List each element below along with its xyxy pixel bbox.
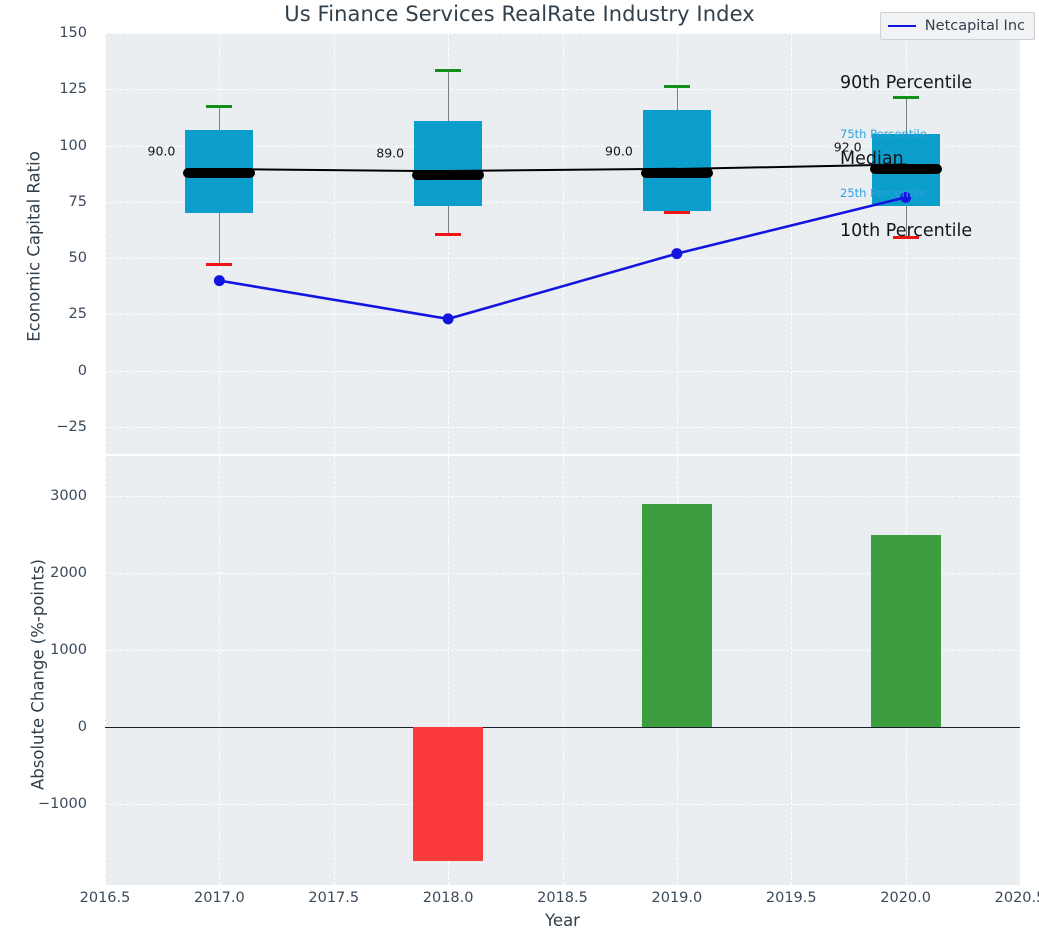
y-gridline-bottom (105, 496, 1020, 497)
annotation-75th-percentile: 75th Percentile (840, 127, 927, 141)
x-tick-label-7: 2020.0 (861, 890, 951, 906)
y-tick-label-top-2: 100 (0, 138, 96, 154)
legend-swatch-netcapital (888, 25, 916, 27)
x-tick-label-3: 2018.0 (403, 890, 493, 906)
y-gridline-top (105, 258, 1020, 259)
x-tick-label-5: 2019.0 (632, 890, 722, 906)
x-gridline (334, 33, 335, 454)
economic-capital-ratio-plot-area (105, 33, 1020, 454)
chart-figure: Us Finance Services RealRate Industry In… (0, 0, 1039, 942)
annotation-median: Median (840, 149, 904, 169)
x-gridline (105, 456, 106, 885)
x-tick-label-8: 2020.5 (975, 890, 1039, 906)
x-gridline (219, 456, 220, 885)
legend[interactable]: Netcapital Inc (880, 12, 1035, 40)
x-gridline (791, 33, 792, 454)
x-gridline (105, 33, 106, 454)
zero-line (105, 727, 1020, 728)
median-label-2017: 90.0 (148, 144, 182, 159)
y-tick-label-bottom-4: −1000 (0, 796, 96, 812)
whisker-cap-low-2017 (206, 263, 232, 266)
y-tick-label-bottom-2: 1000 (0, 642, 96, 658)
y-tick-label-top-3: 75 (0, 194, 96, 210)
y-tick-label-top-1: 125 (0, 81, 96, 97)
bar-2019 (642, 504, 712, 727)
x-tick-label-4: 2018.5 (518, 890, 608, 906)
x-tick-label-0: 2016.5 (60, 890, 150, 906)
median-label-2018: 89.0 (376, 146, 410, 161)
median-marker-2017 (183, 168, 255, 178)
median-marker-2018 (412, 170, 484, 180)
whisker-cap-high-2020 (893, 96, 919, 99)
whisker-cap-high-2017 (206, 105, 232, 108)
median-label-2019: 90.0 (605, 144, 639, 159)
x-tick-label-6: 2019.5 (746, 890, 836, 906)
whisker-cap-low-2018 (435, 233, 461, 236)
whisker-cap-low-2019 (664, 211, 690, 214)
y-gridline-top (105, 371, 1020, 372)
x-gridline (791, 456, 792, 885)
annotation-90th-percentile: 90th Percentile (840, 73, 972, 93)
x-gridline (563, 456, 564, 885)
annotation-25th-percentile: 25th Percentile (840, 186, 927, 200)
x-gridline (334, 456, 335, 885)
y-tick-label-top-7: −25 (0, 419, 96, 435)
x-tick-label-1: 2017.0 (174, 890, 264, 906)
box-2018 (414, 121, 482, 207)
bar-2020 (871, 535, 941, 727)
box-2019 (643, 110, 711, 211)
y-tick-label-bottom-0: 3000 (0, 488, 96, 504)
y-tick-label-top-4: 50 (0, 250, 96, 266)
y-tick-label-top-0: 150 (0, 25, 96, 41)
y-tick-label-top-6: 0 (0, 363, 96, 379)
y-tick-label-top-5: 25 (0, 306, 96, 322)
x-axis-label: Year (105, 911, 1020, 930)
bar-2018 (413, 727, 483, 861)
y-tick-label-bottom-1: 2000 (0, 565, 96, 581)
whisker-cap-high-2019 (664, 85, 690, 88)
whisker-cap-high-2018 (435, 69, 461, 72)
x-tick-label-2: 2017.5 (289, 890, 379, 906)
y-gridline-top (105, 427, 1020, 428)
median-marker-2019 (641, 168, 713, 178)
legend-label-netcapital: Netcapital Inc (925, 18, 1025, 34)
annotation-10th-percentile: 10th Percentile (840, 221, 972, 241)
y-tick-label-bottom-3: 0 (0, 719, 96, 735)
y-gridline-bottom (105, 804, 1020, 805)
x-gridline (563, 33, 564, 454)
y-gridline-top (105, 314, 1020, 315)
